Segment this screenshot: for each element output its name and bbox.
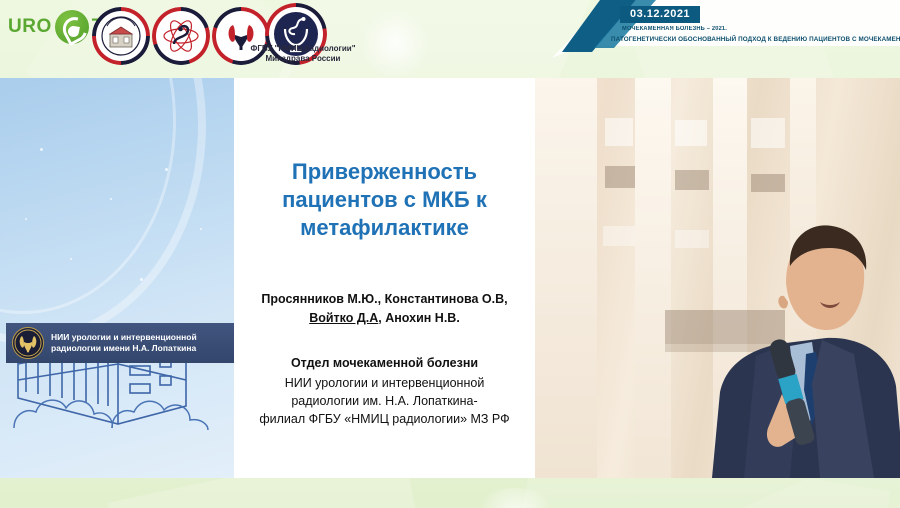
urotv-circle-icon [55,10,89,44]
kidney-seal-icon [12,327,44,359]
broadcast-screen: URO TV [0,0,900,508]
slide-left-panel: НИИ урологии и интервенционной радиологи… [0,78,234,478]
event-title-line1: МОЧЕКАМЕННАЯ БОЛЕЗНЬ – 2021. [622,26,727,32]
institute-badge-text: НИИ урологии и интервенционной радиологи… [51,332,197,355]
event-date: 03.12.2021 [620,6,700,23]
slide-title: Приверженность пациентов с МКБ к метафил… [242,158,527,242]
event-banner: 03.12.2021 МОЧЕКАМЕННАЯ БОЛЕЗНЬ – 2021. … [540,0,900,60]
event-title-line2: ПАТОГЕНЕТИЧЕСКИ ОБОСНОВАННЫЙ ПОДХОД К ВЕ… [611,36,900,43]
logo-strip: URO TV [0,0,540,78]
nmic-radiology-emblem [92,7,150,65]
nmic-caption-line1: ФГБУ "НМИЦ радиологии" Минздрава России [238,44,368,64]
slide-authors: Просянников М.Ю., Константинова О.В, Вой… [242,290,527,328]
atom-emblem [152,7,210,65]
institute-badge: НИИ урологии и интервенционной радиологи… [6,323,234,363]
presenting-author: Войтко Д.А [309,311,378,325]
authors-line-1: Просянников М.Ю., Константинова О.В, [242,290,527,309]
slide-department: Отдел мочекаменной болезни [242,356,527,370]
institute-badge-line1: НИИ урологии и интервенционной [51,332,197,343]
nmic-caption: ФГБУ "НМИЦ радиологии" Минздрава России [238,44,368,64]
urotv-pre-label: URO [8,16,52,38]
authors-line-2: Войтко Д.А, Анохин Н.В. [242,309,527,328]
authors-line-2-rest: , Анохин Н.В. [378,311,460,325]
affiliation-line-3: филиал ФГБУ «НМИЦ радиологии» МЗ РФ [238,410,531,428]
institute-badge-line2: радиологии имени Н.А. Лопаткина [51,343,197,354]
slide-right-panel: Приверженность пациентов с МКБ к метафил… [234,78,535,478]
speaker-figure [694,178,900,478]
speaker-video[interactable] [535,78,900,478]
slide-affiliation: НИИ урологии и интервенционной радиологи… [238,374,531,428]
affiliation-line-1: НИИ урологии и интервенционной [238,374,531,392]
presentation-slide[interactable]: НИИ урологии и интервенционной радиологи… [0,78,535,478]
affiliation-line-2: радиологии им. Н.А. Лопаткина- [238,392,531,410]
